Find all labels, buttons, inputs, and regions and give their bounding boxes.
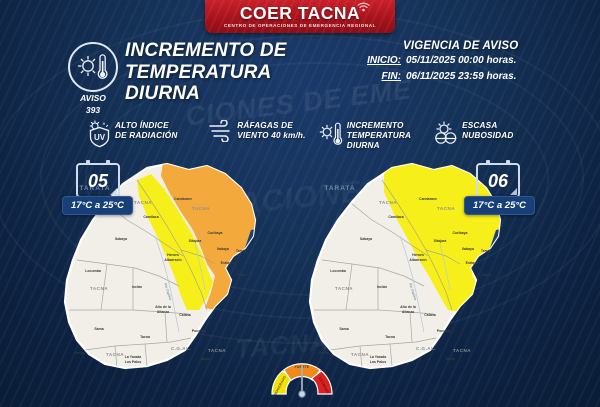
aviso-number: 393 — [62, 106, 124, 116]
svg-text:Calana: Calana — [424, 313, 436, 317]
svg-text:Tacna: Tacna — [200, 357, 210, 361]
map-outside-label: TARATA — [324, 185, 355, 192]
brand-subtitle: CENTRO DE OPERACIONES DE EMERGENCIA REGI… — [205, 22, 395, 29]
wind-icon — [207, 118, 237, 142]
svg-text:Albarracin: Albarracin — [409, 258, 426, 262]
svg-text:Inclán: Inclán — [377, 285, 387, 289]
svg-text:Sabaya: Sabaya — [115, 237, 127, 241]
svg-text:Sama: Sama — [94, 327, 103, 331]
svg-text:TACNA: TACNA — [208, 348, 226, 353]
condition-temperature-text: INCREMENTO TEMPERATURA DIURNA — [347, 118, 411, 151]
aviso-word: AVISO — [62, 94, 124, 104]
page-title: INCREMENTO DE TEMPERATURA DIURNA — [125, 40, 287, 105]
condition-line: TEMPERATURA — [347, 131, 411, 141]
day-badge-06: 06 — [476, 163, 520, 198]
wifi-icon — [357, 2, 370, 12]
svg-text:Tarata: Tarata — [481, 249, 491, 253]
condition-radiation: UV ALTO ÍNDICE DE RADIACIÓN — [85, 118, 207, 156]
svg-text:TACNA: TACNA — [335, 286, 353, 291]
condition-line: RÁFAGAS DE — [237, 121, 305, 131]
condition-line: DIURNA — [347, 141, 411, 151]
svg-text:Albarracin: Albarracin — [164, 258, 181, 262]
validity-title: VIGENCIA DE AVISO — [403, 40, 518, 52]
svg-text:Inclán: Inclán — [132, 285, 142, 289]
svg-text:Los Palos: Los Palos — [125, 360, 142, 364]
svg-text:Camilaca: Camilaca — [143, 215, 158, 219]
day-badge-05: 05 — [76, 163, 120, 198]
svg-text:Locumba: Locumba — [85, 269, 101, 273]
thermometer-sun-icon — [317, 118, 347, 148]
svg-text:Estique: Estique — [466, 261, 479, 265]
weather-alert-poster: CIONES DE EME OPERACIONES TACNA COER TAC… — [0, 0, 600, 407]
svg-text:Alianza: Alianza — [402, 310, 414, 314]
svg-text:Sabaya: Sabaya — [360, 237, 372, 241]
validity-end-label: FIN: — [355, 70, 406, 84]
day-number: 05 — [88, 171, 108, 191]
condition-line: INCREMENTO — [347, 121, 411, 131]
svg-text:TACNA: TACNA — [134, 200, 152, 205]
svg-text:TACNA: TACNA — [379, 200, 397, 205]
condition-cloudiness-text: ESCASA NUBOSIDAD — [462, 118, 513, 141]
temp-range-06: 17°C a 25°C — [464, 196, 535, 215]
svg-text:Ilabaya: Ilabaya — [217, 247, 229, 251]
uv-shield-icon: UV — [85, 118, 115, 148]
svg-text:Los Palos: Los Palos — [370, 360, 387, 364]
calendar-icon: 05 — [76, 163, 120, 198]
svg-text:Pañía: Pañía — [74, 351, 83, 355]
header-banner: COER TACNA CENTRO DE OPERACIONES DE EMER… — [205, 0, 395, 33]
svg-text:UV: UV — [94, 133, 106, 142]
validity-start-row: INICIO: 05/11/2025 00:00 horas. — [355, 54, 518, 68]
svg-text:Sama: Sama — [339, 327, 348, 331]
sun-thermometer-icon — [68, 42, 118, 92]
svg-text:Calana: Calana — [179, 313, 191, 317]
title-line-3: DIURNA — [125, 83, 287, 105]
condition-line: ESCASA — [462, 121, 513, 131]
calendar-fold — [510, 188, 517, 195]
svg-text:TACNA: TACNA — [453, 348, 471, 353]
svg-text:Alianza: Alianza — [157, 310, 169, 314]
svg-text:Locumba: Locumba — [330, 269, 346, 273]
condition-cloudiness: ESCASA NUBOSIDAD — [432, 118, 525, 156]
svg-text:Tacna: Tacna — [385, 335, 395, 339]
conditions-row: UV ALTO ÍNDICE DE RADIACIÓN RÁFAGAS — [85, 118, 525, 156]
svg-text:Palca: Palca — [236, 273, 245, 277]
svg-text:C.G.AL.: C.G.AL. — [416, 346, 436, 351]
svg-text:Heroes: Heroes — [167, 253, 179, 257]
svg-text:Curibaya: Curibaya — [208, 231, 223, 235]
condition-line: NUBOSIDAD — [462, 131, 513, 141]
svg-text:Camilaca: Camilaca — [388, 215, 403, 219]
day-number: 06 — [488, 171, 508, 191]
svg-text:TACNA: TACNA — [351, 352, 369, 357]
condition-wind-text: RÁFAGAS DE VIENTO 40 km/h. — [237, 118, 305, 141]
validity-start-value: 05/11/2025 00:00 horas. — [406, 54, 516, 68]
title-line-2: TEMPERATURA — [125, 62, 287, 84]
svg-text:Palca: Palca — [481, 273, 490, 277]
svg-text:Alto de la: Alto de la — [400, 305, 416, 309]
svg-text:Tacna: Tacna — [140, 335, 150, 339]
svg-text:Curibaya: Curibaya — [453, 231, 468, 235]
svg-text:Alto de la: Alto de la — [155, 305, 171, 309]
svg-text:Pocollay: Pocollay — [192, 329, 206, 333]
gauge-hub — [299, 391, 305, 397]
condition-line: ALTO ÍNDICE — [115, 121, 177, 131]
condition-radiation-text: ALTO ÍNDICE DE RADIACIÓN — [115, 118, 177, 141]
validity-end-row: FIN: 06/11/2025 23:59 horas. — [355, 70, 518, 84]
svg-text:Estique: Estique — [221, 261, 234, 265]
svg-text:Candarave: Candarave — [419, 197, 437, 201]
svg-text:C.G.AL.: C.G.AL. — [171, 346, 191, 351]
svg-text:TACNA: TACNA — [437, 206, 455, 211]
aviso-badge: AVISO 393 — [62, 42, 124, 115]
svg-text:Sitajara: Sitajara — [434, 239, 447, 243]
severity-gauge: MODERADO FUERTE EXTREMO — [268, 352, 336, 398]
svg-text:TACNA: TACNA — [192, 206, 210, 211]
sun-cloud-icon — [432, 118, 462, 146]
calendar-icon: 06 — [476, 163, 520, 198]
svg-text:Sitajara: Sitajara — [189, 239, 202, 243]
calendar-fold — [110, 188, 117, 195]
temp-range-05: 17°C a 25°C — [62, 196, 133, 215]
validity-panel: VIGENCIA DE AVISO INICIO: 05/11/2025 00:… — [355, 40, 518, 83]
svg-text:Ilabaya: Ilabaya — [462, 247, 474, 251]
validity-end-value: 06/11/2025 23:59 horas. — [406, 70, 516, 84]
svg-text:La Yarada: La Yarada — [370, 355, 387, 359]
condition-line: VIENTO 40 km/h. — [237, 131, 305, 141]
svg-text:Tacna: Tacna — [445, 357, 455, 361]
condition-wind: RÁFAGAS DE VIENTO 40 km/h. — [207, 118, 317, 156]
svg-text:Heroes: Heroes — [412, 253, 424, 257]
svg-text:TACNA: TACNA — [106, 352, 124, 357]
condition-line: DE RADIACIÓN — [115, 131, 177, 141]
validity-start-label: INICIO: — [355, 54, 406, 68]
title-line-1: INCREMENTO DE — [125, 40, 287, 62]
svg-text:TACNA: TACNA — [90, 286, 108, 291]
svg-text:Candarave: Candarave — [174, 197, 192, 201]
svg-text:La Yarada: La Yarada — [125, 355, 142, 359]
svg-text:Pocollay: Pocollay — [437, 329, 451, 333]
svg-text:Tarata: Tarata — [236, 249, 246, 253]
condition-temperature: INCREMENTO TEMPERATURA DIURNA — [317, 118, 432, 156]
